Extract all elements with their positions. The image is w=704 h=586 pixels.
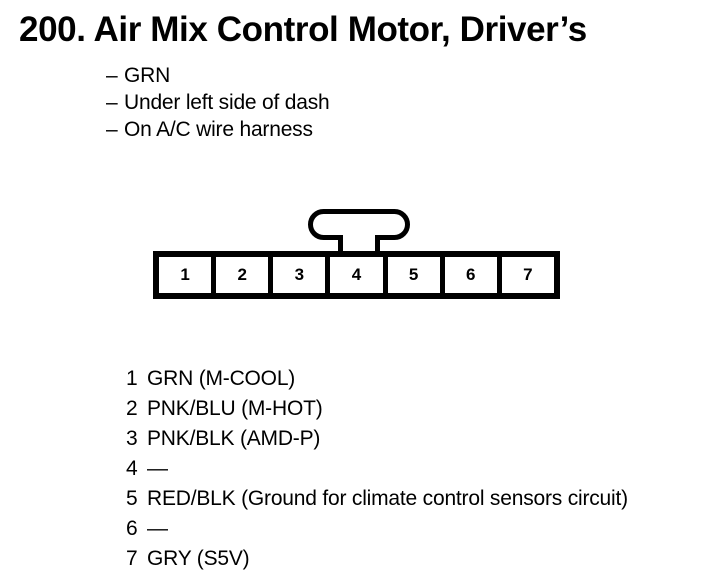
bullet-text: On A/C wire harness xyxy=(124,118,313,141)
pin-legend-row: 2PNK/BLU (M-HOT) xyxy=(126,394,628,424)
pin-value: PNK/BLU (M-HOT) xyxy=(147,397,323,420)
connector-pin-cell: 7 xyxy=(502,257,554,293)
bullet-item: –On A/C wire harness xyxy=(106,116,330,143)
connector-pin-row: 1 2 3 4 5 6 7 xyxy=(153,251,560,299)
pin-legend-row: 4— xyxy=(126,454,628,484)
bullet-text: GRN xyxy=(124,64,170,87)
connector-pin-cell: 4 xyxy=(330,257,387,293)
page-title: 200. Air Mix Control Motor, Driver’s xyxy=(19,8,587,52)
connector-pin-cell: 3 xyxy=(273,257,330,293)
pin-legend-row: 5RED/BLK (Ground for climate control sen… xyxy=(126,484,628,514)
pin-value: — xyxy=(147,517,168,540)
dash-icon: – xyxy=(106,62,124,89)
pin-number: 7 xyxy=(126,544,147,574)
connector-pin-cell: 6 xyxy=(445,257,502,293)
bullet-text: Under left side of dash xyxy=(124,91,330,114)
pin-legend-row: 3PNK/BLK (AMD-P) xyxy=(126,424,628,454)
connector-pin-cell: 1 xyxy=(159,257,216,293)
connector-diagram: 1 2 3 4 5 6 7 xyxy=(153,209,560,300)
description-bullet-list: –GRN –Under left side of dash –On A/C wi… xyxy=(106,62,330,143)
pin-number: 5 xyxy=(126,484,147,514)
pin-legend-row: 1GRN (M-COOL) xyxy=(126,364,628,394)
connector-pin-cell: 2 xyxy=(216,257,273,293)
pin-value: RED/BLK (Ground for climate control sens… xyxy=(147,487,628,510)
bullet-item: –GRN xyxy=(106,62,330,89)
pin-value: GRY (S5V) xyxy=(147,547,249,570)
pin-value: PNK/BLK (AMD-P) xyxy=(147,427,320,450)
pin-legend-row: 6— xyxy=(126,514,628,544)
pin-value: GRN (M-COOL) xyxy=(147,367,295,390)
bullet-item: –Under left side of dash xyxy=(106,89,330,116)
pin-legend-list: 1GRN (M-COOL) 2PNK/BLU (M-HOT) 3PNK/BLK … xyxy=(126,364,628,574)
pin-value: — xyxy=(147,457,168,480)
connector-pin-cell: 5 xyxy=(388,257,445,293)
dash-icon: – xyxy=(106,89,124,116)
pin-number: 2 xyxy=(126,394,147,424)
pin-number: 6 xyxy=(126,514,147,544)
pin-number: 3 xyxy=(126,424,147,454)
pin-legend-row: 7GRY (S5V) xyxy=(126,544,628,574)
pin-number: 4 xyxy=(126,454,147,484)
pin-number: 1 xyxy=(126,364,147,394)
dash-icon: – xyxy=(106,116,124,143)
